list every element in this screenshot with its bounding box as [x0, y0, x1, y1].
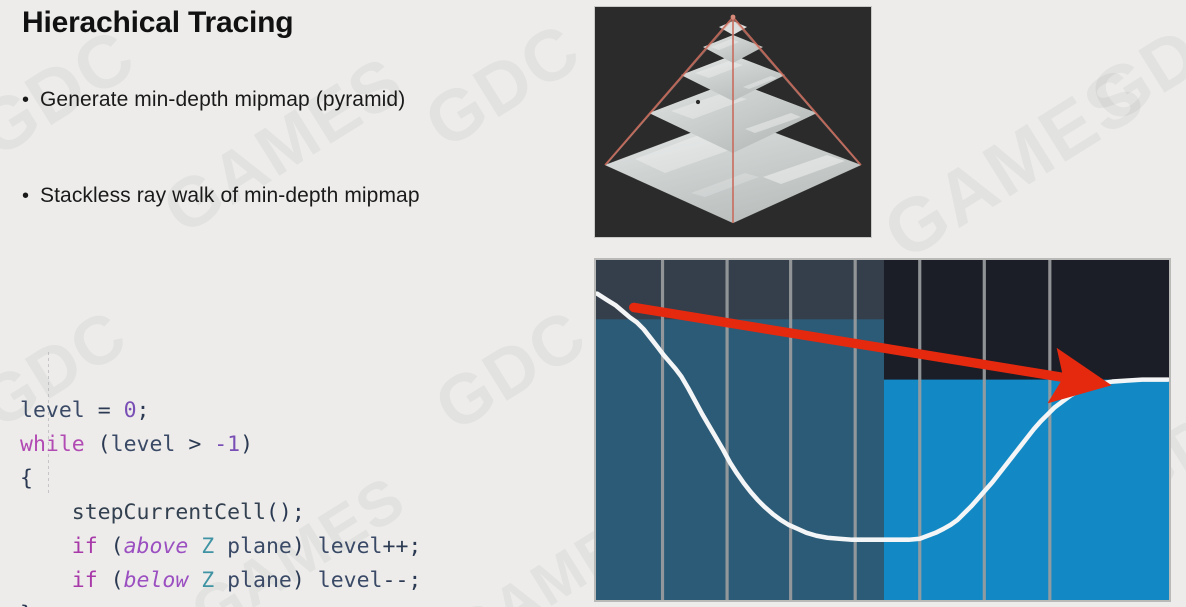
code-token: ( [85, 432, 111, 457]
slide-title: Hierachical Tracing [22, 6, 293, 40]
watermark-text: GDC [421, 293, 600, 446]
code-line: { [20, 462, 421, 496]
code-token: ) [292, 568, 318, 593]
code-token: ( [98, 534, 124, 559]
code-token [20, 568, 72, 593]
code-token: plane [227, 534, 292, 559]
hiz-trace-svg [596, 260, 1169, 600]
code-line: if (below Z plane) level--; [20, 564, 421, 598]
code-token: > [188, 432, 201, 457]
code-token: --; [383, 568, 422, 593]
code-token: 0 [124, 398, 137, 423]
code-token [214, 568, 227, 593]
code-token: ) [292, 534, 318, 559]
code-block: level = 0;while (level > -1){ stepCurren… [20, 292, 421, 607]
code-token [188, 534, 201, 559]
bullet-item: • Generate min-depth mipmap (pyramid) [22, 88, 405, 112]
code-token: level [318, 568, 383, 593]
bullet-text: Stackless ray walk of min-depth mipmap [40, 184, 420, 208]
watermark-text: GAMES [149, 40, 418, 249]
code-token: ( [98, 568, 124, 593]
min-depth-block-left [596, 319, 884, 600]
code-token: ++; [383, 534, 422, 559]
code-token [85, 398, 98, 423]
bullet-text: Generate min-depth mipmap (pyramid) [40, 88, 405, 112]
code-line: level = 0; [20, 394, 421, 428]
pyramid-svg [595, 7, 871, 237]
code-line: while (level > -1) [20, 428, 421, 462]
code-token: if [72, 534, 98, 559]
code-token: plane [227, 568, 292, 593]
code-token: -1 [214, 432, 240, 457]
code-token: level [318, 534, 383, 559]
code-token [201, 432, 214, 457]
code-token [111, 398, 124, 423]
code-token: ; [137, 398, 150, 423]
code-token [175, 432, 188, 457]
code-token: (); [266, 500, 305, 525]
code-token [20, 534, 72, 559]
bullet-item: • Stackless ray walk of min-depth mipmap [22, 184, 420, 208]
slide-root: GDC GAMES GDC GAMES GD GDC GAMES GDC GAM… [0, 0, 1186, 607]
code-token: Z [201, 534, 214, 559]
code-token: stepCurrentCell [72, 500, 266, 525]
code-token: level [111, 432, 176, 457]
code-token: } [20, 602, 33, 607]
code-token: { [20, 466, 33, 491]
code-token: below [124, 568, 189, 593]
watermark-text: GAMES [869, 50, 1160, 277]
code-token: while [20, 432, 85, 457]
pyramid-apex-marker [731, 15, 736, 20]
code-token [214, 534, 227, 559]
code-token: level [20, 398, 85, 423]
code-line: if (above Z plane) level++; [20, 530, 421, 564]
code-token: above [124, 534, 189, 559]
code-token [188, 568, 201, 593]
code-lines: level = 0;while (level > -1){ stepCurren… [20, 394, 421, 607]
code-token: = [98, 398, 111, 423]
code-line: stepCurrentCell(); [20, 496, 421, 530]
bullet-marker-icon: • [22, 90, 40, 110]
code-token: ) [240, 432, 253, 457]
code-token [20, 500, 72, 525]
hiz-trace-figure [594, 258, 1171, 602]
code-token: Z [201, 568, 214, 593]
watermark-text: GD [1077, 12, 1186, 141]
code-line: } [20, 598, 421, 607]
min-depth-block-right [884, 380, 1169, 600]
watermark-text: GDC [411, 7, 595, 165]
mipmap-pyramid-figure [594, 6, 872, 238]
bullet-marker-icon: • [22, 186, 40, 206]
code-token: if [72, 568, 98, 593]
